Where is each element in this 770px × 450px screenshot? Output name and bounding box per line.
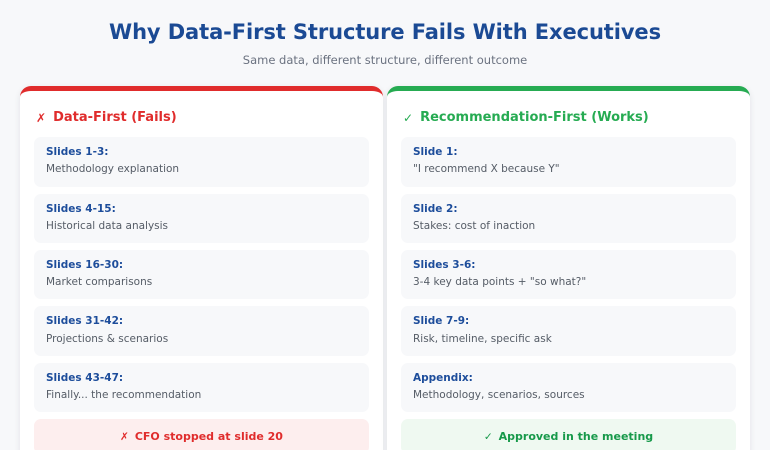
list-item: Appendix: Methodology, scenarios, source… bbox=[401, 363, 736, 412]
card-data-first: ✗ Data-First (Fails) Slides 1-3: Methodo… bbox=[20, 86, 383, 450]
card-header-data-first: ✗ Data-First (Fails) bbox=[34, 105, 369, 137]
card-recommendation-first: ✓ Recommendation-First (Works) Slide 1: … bbox=[387, 86, 750, 450]
check-mark-icon: ✓ bbox=[484, 432, 493, 443]
slide-range-label: Slides 4-15: bbox=[46, 202, 357, 217]
slide-description: Historical data analysis bbox=[46, 219, 357, 234]
heading-block: Why Data-First Structure Fails With Exec… bbox=[20, 16, 750, 68]
list-item: Slide 2: Stakes: cost of inaction bbox=[401, 194, 736, 243]
page-title: Why Data-First Structure Fails With Exec… bbox=[20, 20, 750, 45]
list-item: Slides 4-15: Historical data analysis bbox=[34, 194, 369, 243]
slide-range-label: Slides 16-30: bbox=[46, 258, 357, 273]
comparison-infographic: Why Data-First Structure Fails With Exec… bbox=[0, 0, 770, 450]
page-subtitle: Same data, different structure, differen… bbox=[20, 53, 750, 68]
slide-range-label: Appendix: bbox=[413, 371, 724, 386]
slide-list-recommendation-first: Slide 1: "I recommend X because Y" Slide… bbox=[401, 137, 736, 412]
slide-description: "I recommend X because Y" bbox=[413, 162, 724, 177]
card-title-recommendation-first: Recommendation-First (Works) bbox=[420, 110, 649, 125]
slide-list-data-first: Slides 1-3: Methodology explanation Slid… bbox=[34, 137, 369, 412]
card-header-recommendation-first: ✓ Recommendation-First (Works) bbox=[401, 105, 736, 137]
outcome-banner-text: Approved in the meeting bbox=[499, 430, 654, 443]
slide-range-label: Slide 1: bbox=[413, 145, 724, 160]
slide-description: 3-4 key data points + "so what?" bbox=[413, 275, 724, 290]
list-item: Slides 43-47: Finally... the recommendat… bbox=[34, 363, 369, 412]
list-item: Slides 16-30: Market comparisons bbox=[34, 250, 369, 299]
check-mark-icon: ✓ bbox=[403, 112, 413, 124]
cross-mark-icon: ✗ bbox=[36, 112, 46, 124]
slide-range-label: Slides 3-6: bbox=[413, 258, 724, 273]
slide-range-label: Slides 31-42: bbox=[46, 314, 357, 329]
slide-description: Risk, timeline, specific ask bbox=[413, 332, 724, 347]
slide-range-label: Slides 43-47: bbox=[46, 371, 357, 386]
list-item: Slides 1-3: Methodology explanation bbox=[34, 137, 369, 186]
cross-mark-icon: ✗ bbox=[120, 432, 129, 443]
list-item: Slides 3-6: 3-4 key data points + "so wh… bbox=[401, 250, 736, 299]
slide-description: Stakes: cost of inaction bbox=[413, 219, 724, 234]
slide-range-label: Slide 7-9: bbox=[413, 314, 724, 329]
slide-description: Methodology explanation bbox=[46, 162, 357, 177]
card-title-data-first: Data-First (Fails) bbox=[53, 110, 177, 125]
slide-description: Finally... the recommendation bbox=[46, 388, 357, 403]
slide-description: Projections & scenarios bbox=[46, 332, 357, 347]
outcome-banner-text: CFO stopped at slide 20 bbox=[135, 430, 283, 443]
slide-description: Methodology, scenarios, sources bbox=[413, 388, 724, 403]
list-item: Slide 1: "I recommend X because Y" bbox=[401, 137, 736, 186]
list-item: Slides 31-42: Projections & scenarios bbox=[34, 306, 369, 355]
comparison-columns: ✗ Data-First (Fails) Slides 1-3: Methodo… bbox=[20, 86, 750, 450]
outcome-banner-data-first: ✗ CFO stopped at slide 20 bbox=[34, 419, 369, 450]
slide-description: Market comparisons bbox=[46, 275, 357, 290]
list-item: Slide 7-9: Risk, timeline, specific ask bbox=[401, 306, 736, 355]
slide-range-label: Slide 2: bbox=[413, 202, 724, 217]
outcome-banner-recommendation-first: ✓ Approved in the meeting bbox=[401, 419, 736, 450]
slide-range-label: Slides 1-3: bbox=[46, 145, 357, 160]
